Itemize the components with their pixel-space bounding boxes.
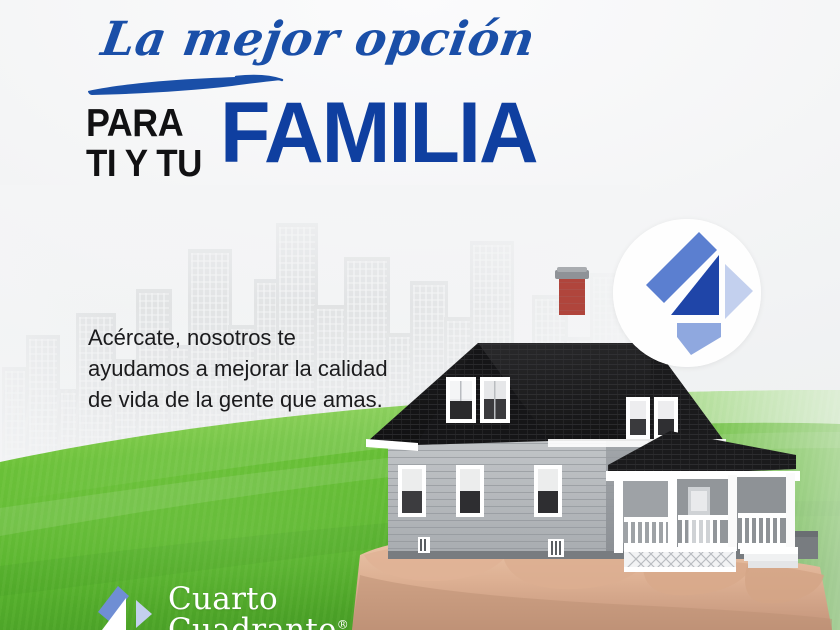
house-windows-lower [398, 465, 562, 517]
headline-script-line: La mejor opción [98, 16, 689, 63]
brand-logo-line2-text: Cuadrante [168, 612, 337, 630]
headline-second-line: PARA TI Y TU FAMILIA [86, 100, 550, 182]
brand-logo-line1: Cuarto [168, 584, 349, 615]
cuarto-cuadrante-mark-icon [96, 584, 158, 630]
body-paragraph: Acércate, nosotros te ayudamos a mejorar… [88, 322, 388, 416]
brand-badge-circle [613, 219, 761, 367]
house-porch [606, 431, 800, 572]
registered-trademark-icon: ® [337, 618, 349, 630]
headline-word-familia: FAMILIA [220, 94, 537, 173]
headline-word-tiytu: TI Y TU [86, 147, 202, 183]
house-in-hand-photo [352, 255, 840, 630]
headline-para-stack: PARA TI Y TU [86, 100, 212, 182]
headline-block: La mejor opción PARA TI Y TU FAMILIA [86, 16, 686, 63]
headline-word-para: PARA [86, 106, 202, 143]
brand-logo-line2: Cuadrante® [168, 615, 349, 630]
four-numeral-logo-icon [613, 219, 761, 367]
brand-logo-lockup[interactable]: Cuarto Cuadrante® [96, 584, 349, 630]
brand-logo-text: Cuarto Cuadrante® [168, 584, 349, 630]
promotional-poster: La mejor opción PARA TI Y TU FAMILIA Acé… [0, 0, 840, 630]
